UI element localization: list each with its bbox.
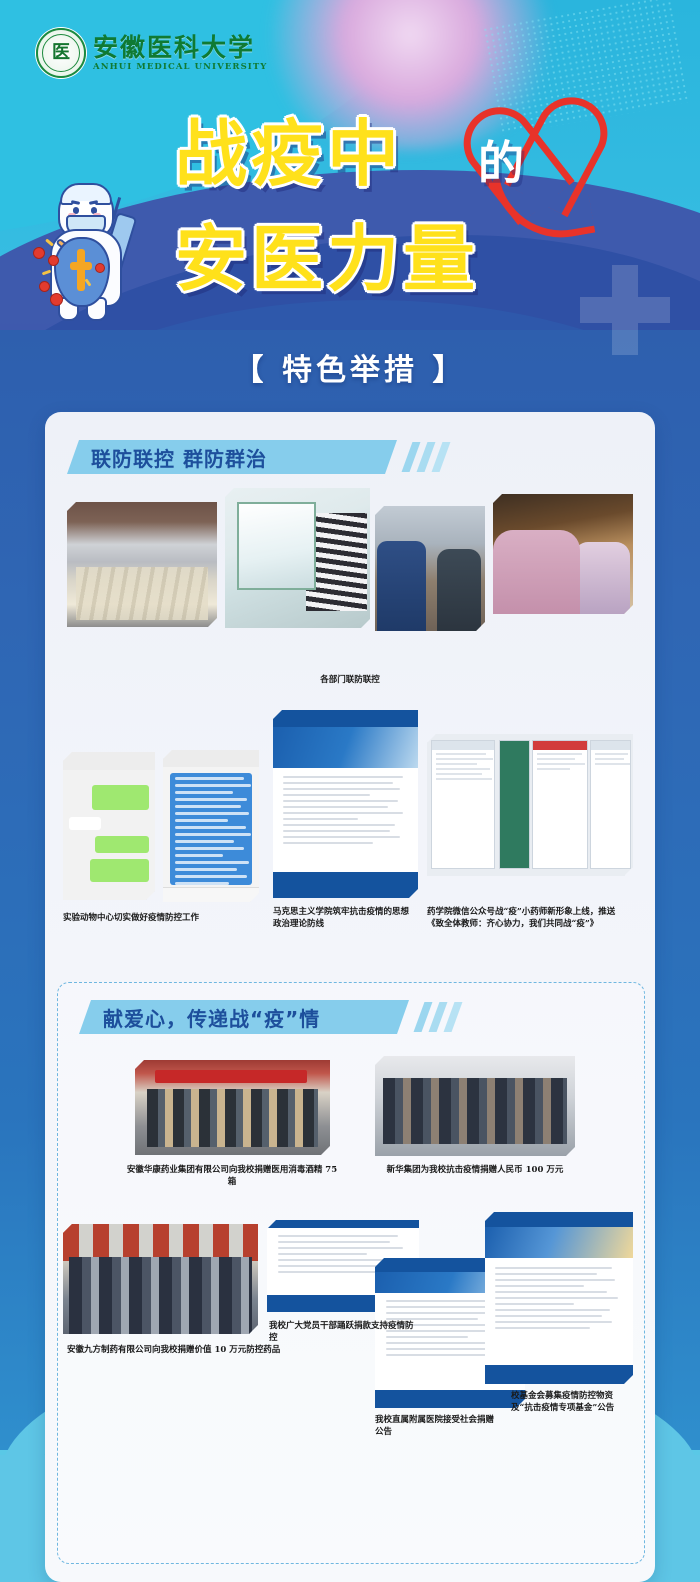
caption-huakang-donation: 安徽华康药业集团有限公司向我校捐赠医用消毒酒精 75 箱 [123,1164,341,1189]
section-header-joint-prevention: 联防联控 群防群治 [67,440,497,474]
university-name-en: ANHUI MEDICAL UNIVERSITY [93,63,267,72]
marxism-web-photo [273,710,418,898]
temperature-photo [493,494,633,614]
caption-hospital-notice: 我校直属附属医院接受社会捐赠公告 [375,1414,501,1439]
jiufang-donation-photo [63,1224,258,1334]
canteen-photo [67,502,217,627]
app-notice-photo [163,750,259,902]
alcohol-donation-photo [135,1060,330,1155]
headline-line-2: 安医力量 [175,200,479,305]
caption-pharmacy-wechat: 药学院微信公众号战“疫”小药师新形象上线，推送《致全体教师：齐心协力，我们共同战… [427,906,617,931]
caption-party-donation: 我校广大党员干部踊跃捐款支持疫情防控 [269,1320,419,1345]
subtitle-text: 【 特色举措 】 [234,353,467,388]
headline-particle: 的 [478,127,524,193]
guard-check-photo [375,506,485,631]
pharmacy-wechat-photo [427,734,633,876]
caption-marxism-college: 马克思主义学院筑牢抗击疫情的思想政治理论防线 [273,906,413,931]
cheque-amount-label: 壹佰万元 [429,1102,525,1128]
university-seal-icon: 医 [36,28,86,78]
section-title-1: 联防联控 群防群治 [91,443,267,472]
poster-subtitle: 【 特色举措 】 [0,345,700,389]
cheque-donation-photo: 壹佰万元 [375,1056,575,1156]
section-title-2: 献爱心，传递战“疫”情 [103,1003,320,1032]
content-card: 联防联控 群防群治 各部门联防联控 实验动物中心切实做好疫情防控工作 马克思主义… [45,412,655,1582]
window-check-photo [225,488,370,628]
caption-foundation-notice: 校基金会募集疫情防控物资及“抗击疫情专项基金”公告 [511,1390,631,1415]
foundation-notice-web-photo [485,1212,633,1384]
caption-joint-departments: 各部门联防联控 [245,674,455,686]
ribbon-slashes-icon-2 [419,1002,457,1032]
university-name-cn: 安徽医科大学 [93,35,267,60]
medical-worker-mascot-icon [20,185,150,330]
section-header-donation: 献爱心，传递战“疫”情 [79,1000,509,1034]
headline-line-1: 战疫中 [175,95,403,200]
caption-xinhua-donation: 新华集团为我校抗击疫情捐赠人民币 100 万元 [367,1164,583,1176]
wechat-chat-photo [63,752,155,900]
ribbon-slashes-icon [407,442,445,472]
university-logo: 医 安徽医科大学 ANHUI MEDICAL UNIVERSITY [36,28,267,78]
caption-animal-center: 实验动物中心切实做好疫情防控工作 [63,912,273,924]
caption-jiufang-donation: 安徽九方制药有限公司向我校捐赠价值 10 万元防控药品 [67,1344,285,1356]
